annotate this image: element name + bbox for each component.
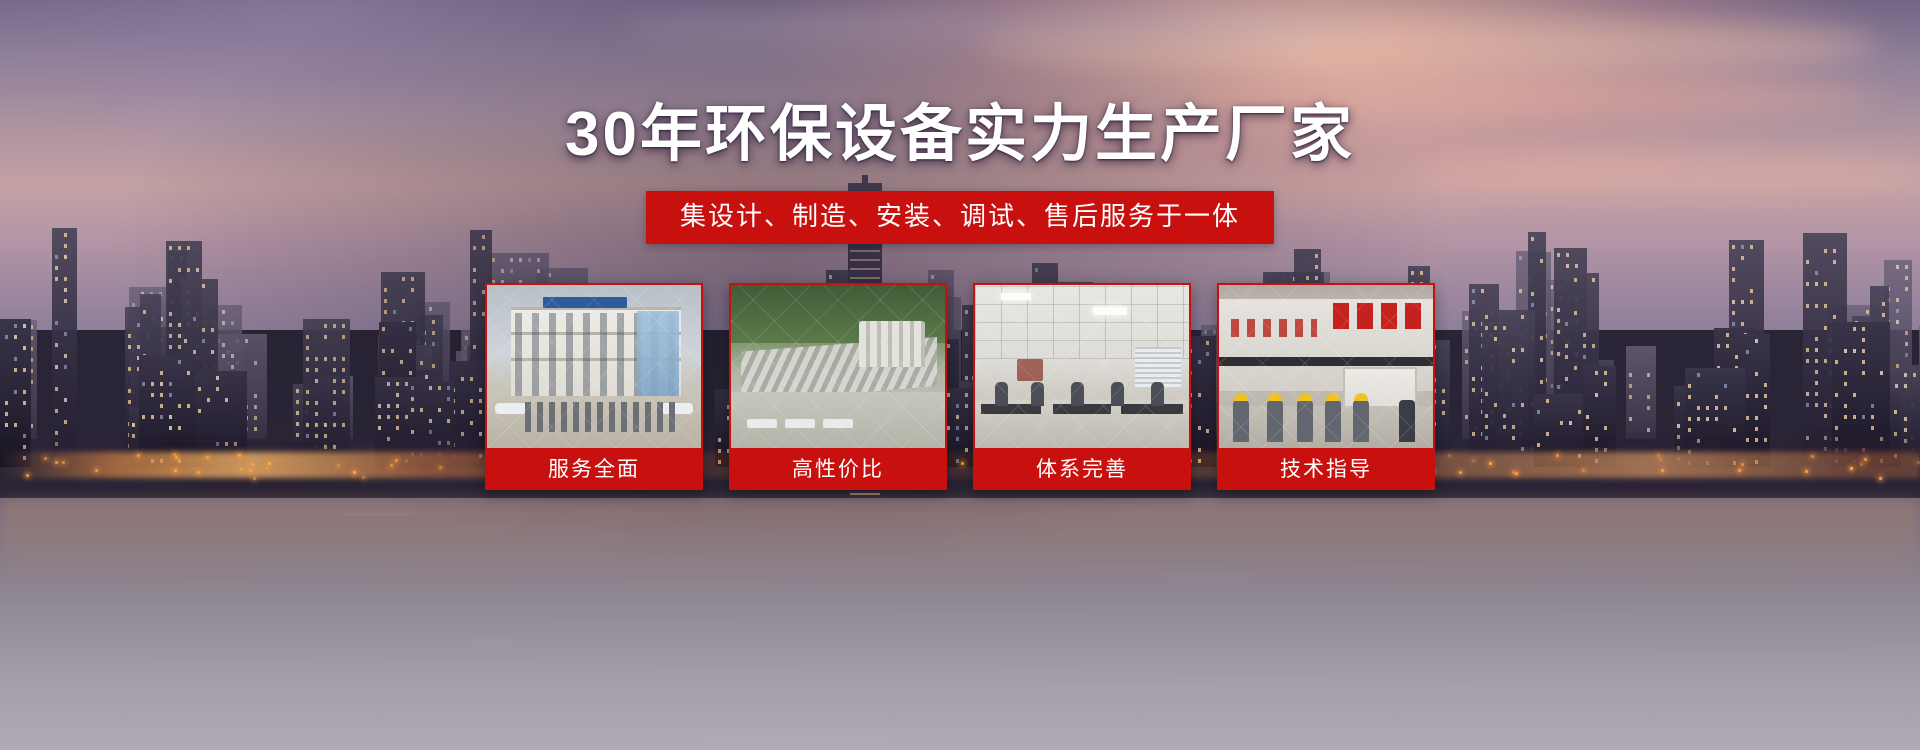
card-image-workshop-workers	[1219, 285, 1433, 448]
feature-card[interactable]: 体系完善	[973, 283, 1191, 490]
card-label: 体系完善	[975, 448, 1189, 488]
card-label: 高性价比	[731, 448, 945, 488]
card-image-office-building	[487, 285, 701, 448]
card-label: 服务全面	[487, 448, 701, 488]
hero-banner: 30年环保设备实力生产厂家 集设计、制造、安装、调试、售后服务于一体 服务全面	[0, 0, 1920, 750]
card-label: 技术指导	[1219, 448, 1433, 488]
feature-card[interactable]: 服务全面	[485, 283, 703, 490]
feature-card[interactable]: 技术指导	[1217, 283, 1435, 490]
feature-card[interactable]: 高性价比	[729, 283, 947, 490]
banner-content: 30年环保设备实力生产厂家 集设计、制造、安装、调试、售后服务于一体 服务全面	[0, 0, 1920, 750]
banner-subtitle-bar: 集设计、制造、安装、调试、售后服务于一体	[646, 191, 1274, 244]
card-image-factory-aerial	[731, 285, 945, 448]
banner-headline: 30年环保设备实力生产厂家	[0, 104, 1920, 166]
feature-card-list: 服务全面 高性价比	[485, 283, 1435, 490]
card-image-office-interior	[975, 285, 1189, 448]
